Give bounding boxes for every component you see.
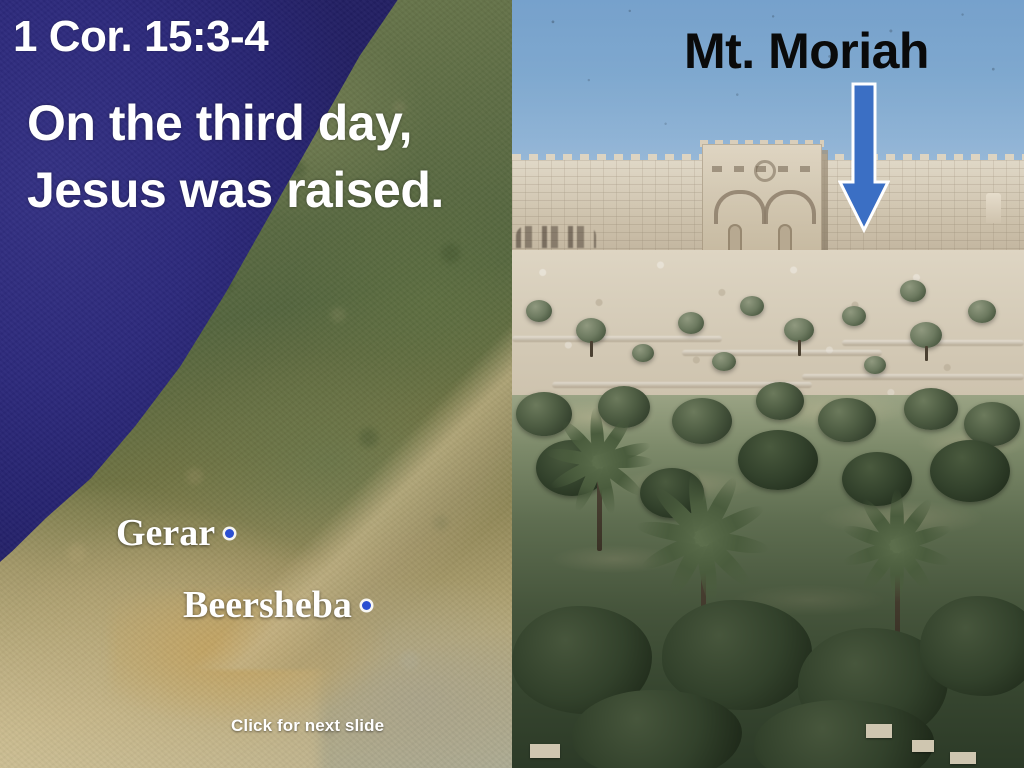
map-label-beersheba-text: Beersheba	[183, 586, 352, 624]
terrace-wall	[512, 336, 722, 342]
olive-tree	[678, 312, 704, 334]
terrace-wall	[802, 374, 1024, 380]
dense-foliage	[920, 596, 1024, 696]
olive-tree	[900, 280, 926, 302]
gate-medallion	[754, 160, 776, 182]
olive-tree	[864, 356, 886, 374]
gate-arch-left	[714, 190, 766, 224]
olive-tree	[930, 440, 1010, 502]
left-panel-satellite-map[interactable]: 1 Cor. 15:3-4 On the third day, Jesus wa…	[0, 0, 512, 768]
gate-arch-right	[764, 190, 816, 224]
tree-trunk	[590, 341, 593, 357]
small-building	[866, 724, 892, 738]
olive-tree	[842, 306, 866, 326]
next-slide-hint[interactable]: Click for next slide	[231, 716, 384, 736]
dense-foliage	[572, 690, 742, 768]
olive-tree	[968, 300, 996, 323]
photo-title-mt-moriah: Mt. Moriah	[684, 26, 929, 76]
down-arrow-icon	[838, 82, 890, 234]
presentation-slide[interactable]: 1 Cor. 15:3-4 On the third day, Jesus wa…	[0, 0, 1024, 768]
small-building	[530, 744, 560, 758]
olive-tree	[576, 318, 606, 343]
wall-turret	[986, 193, 1001, 223]
olive-tree	[904, 388, 958, 430]
map-label-gerar-text: Gerar	[116, 514, 215, 552]
terrace-wall	[682, 350, 882, 356]
small-building	[912, 740, 934, 752]
golden-gate-structure	[702, 144, 822, 256]
palm-tree	[892, 540, 902, 550]
olive-tree	[910, 322, 942, 348]
map-pin-dot-icon	[225, 529, 234, 538]
olive-tree	[712, 352, 736, 371]
olive-tree	[740, 296, 764, 316]
map-label-gerar[interactable]: Gerar	[116, 514, 234, 552]
olive-tree	[632, 344, 654, 362]
small-building	[950, 752, 976, 764]
right-panel-jerusalem-photo[interactable]	[512, 0, 1024, 768]
wall-arcade	[516, 226, 596, 248]
palm-tree	[698, 532, 708, 542]
olive-tree	[672, 398, 732, 444]
tree-trunk	[925, 346, 928, 361]
olive-tree	[738, 430, 818, 490]
olive-tree	[526, 300, 552, 322]
scripture-body-text: On the third day, Jesus was raised.	[27, 90, 497, 223]
tree-trunk	[798, 340, 801, 356]
scripture-reference: 1 Cor. 15:3-4	[13, 14, 268, 60]
map-label-beersheba[interactable]: Beersheba	[183, 586, 371, 624]
map-pin-dot-icon	[362, 601, 371, 610]
palm-tree	[594, 456, 604, 466]
olive-tree	[756, 382, 804, 420]
olive-tree	[818, 398, 876, 442]
olive-tree	[784, 318, 814, 342]
